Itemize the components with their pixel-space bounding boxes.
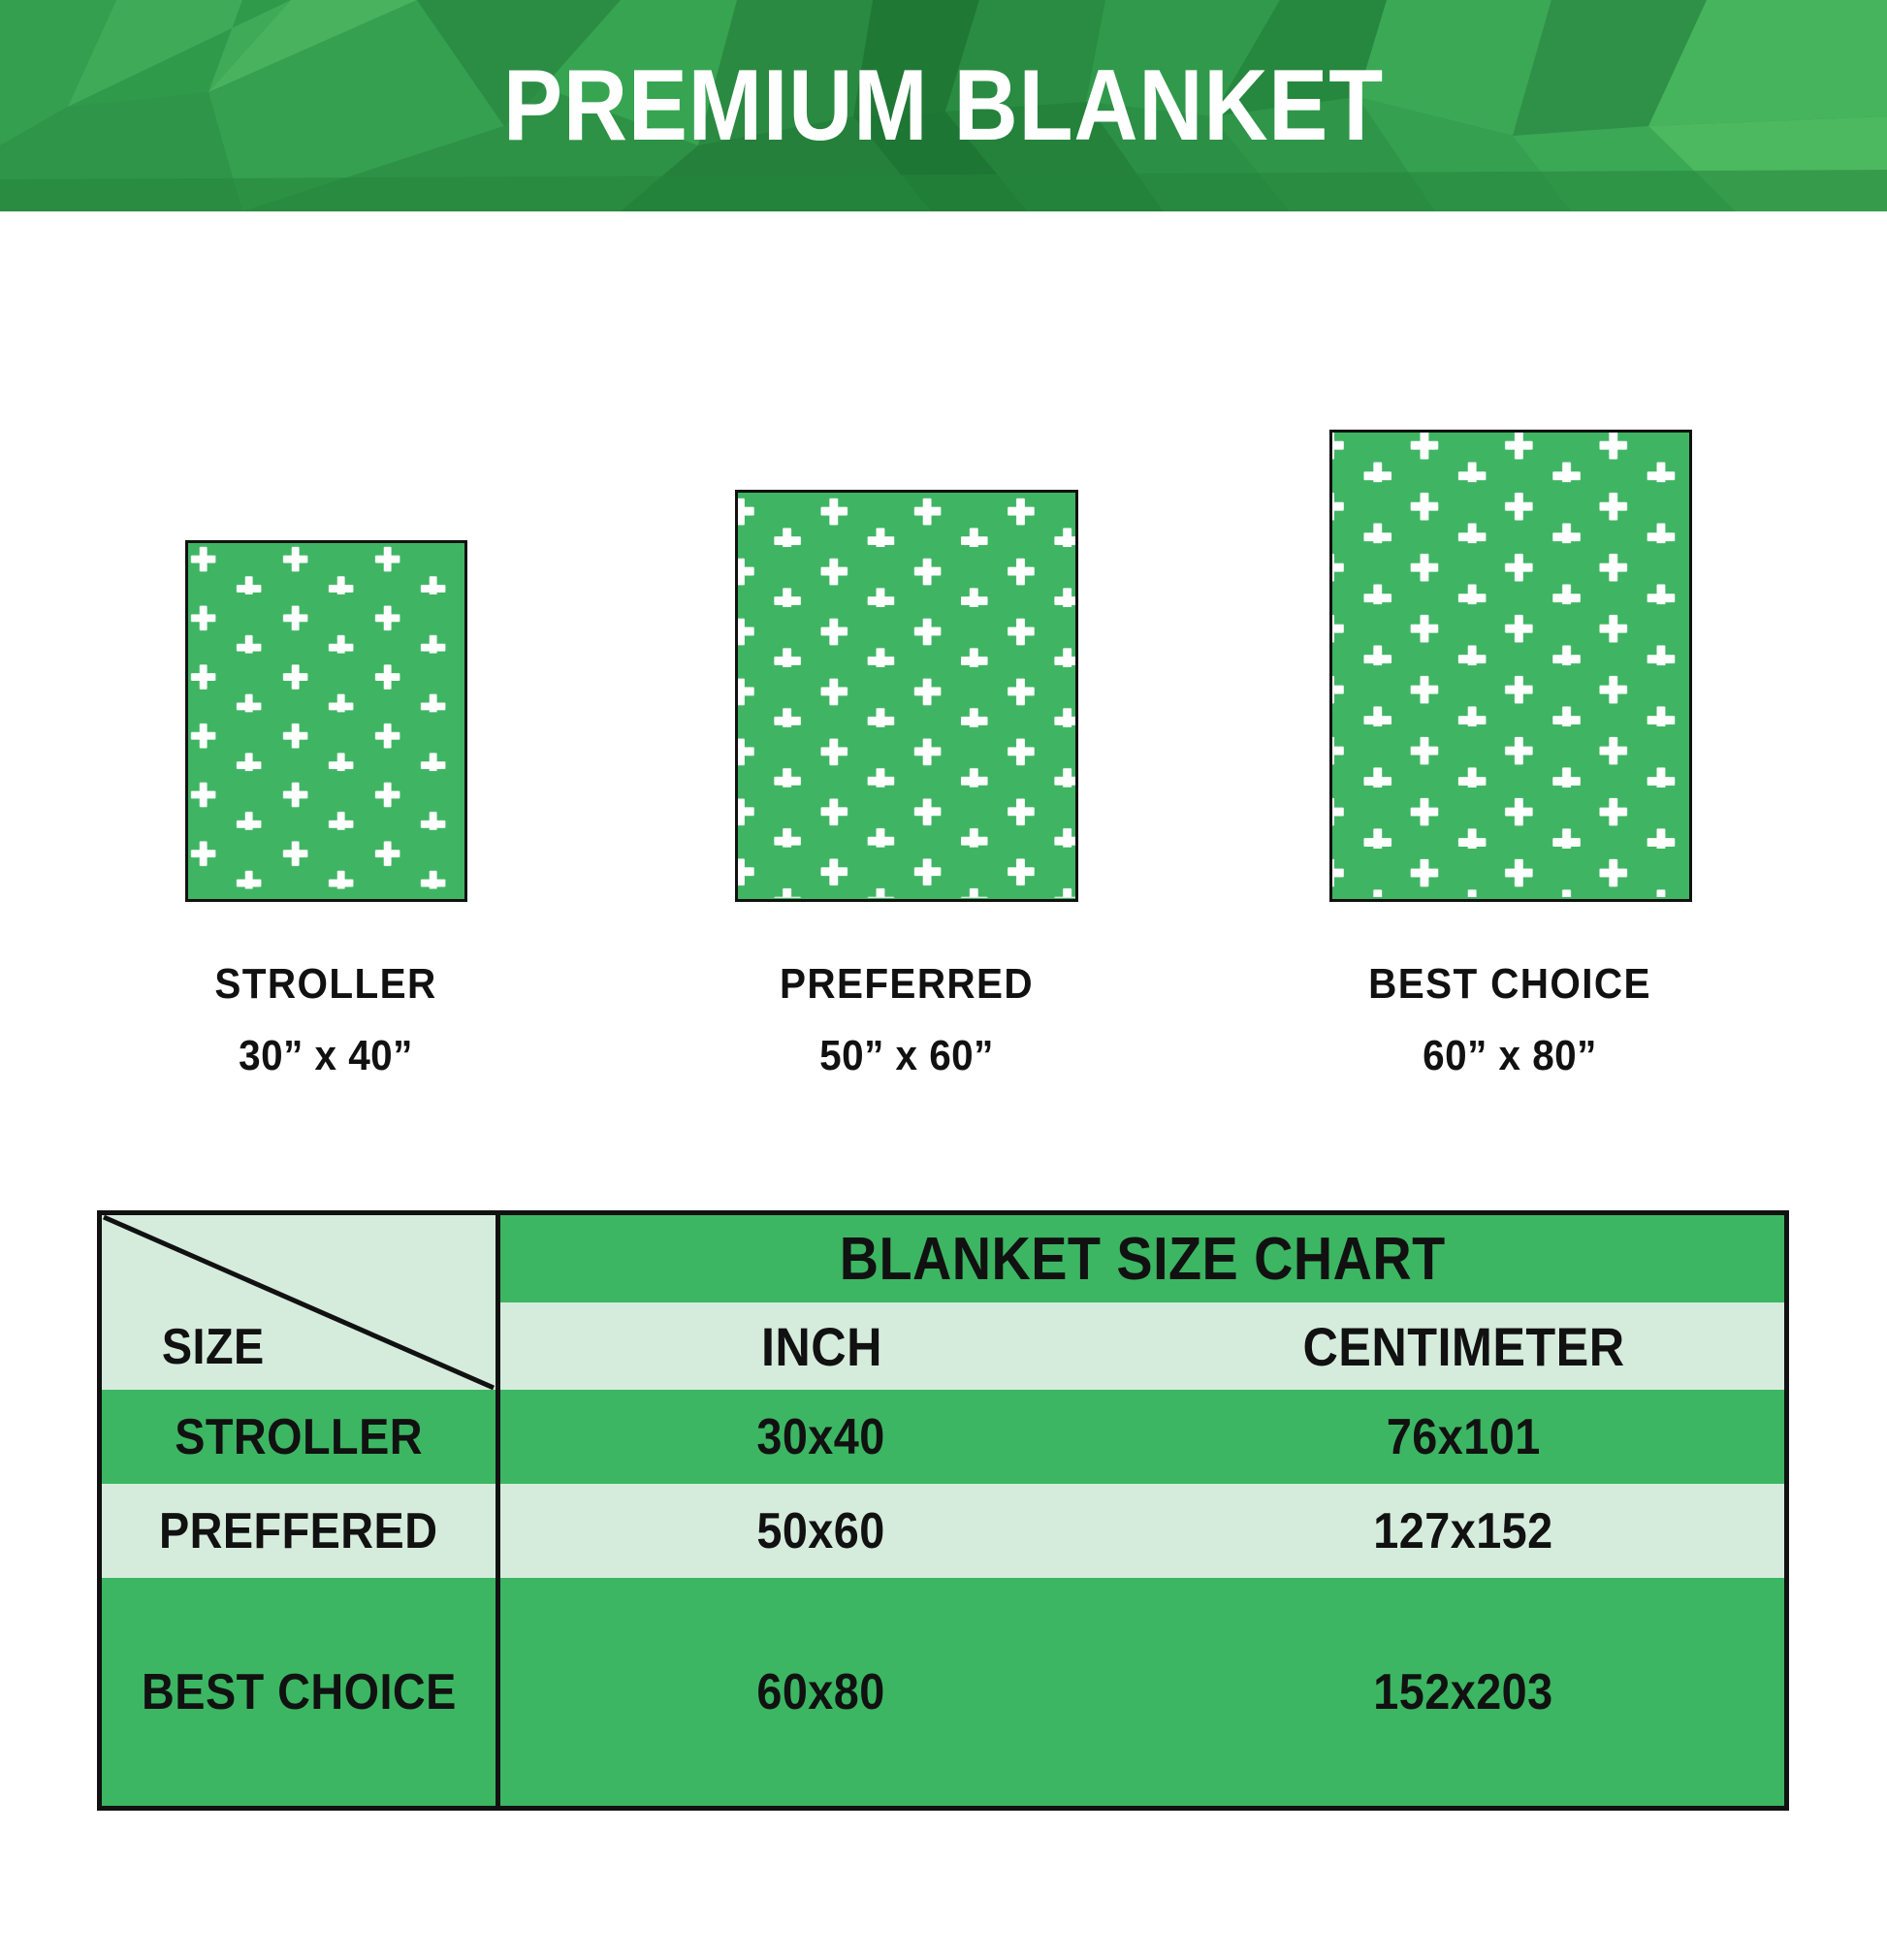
table-column-divider	[496, 1215, 500, 1806]
swatch-caption-best-choice: BEST CHOICE 60” x 80”	[1277, 960, 1743, 1080]
table-title: BLANKET SIZE CHART	[840, 1225, 1446, 1294]
swatch-caption-stroller: STROLLER 30” x 40”	[93, 960, 559, 1080]
swatch-preferred	[735, 490, 1078, 902]
table-cell-centimeter: 76x101	[1142, 1390, 1784, 1484]
row-size-label: PREFFERED	[159, 1502, 437, 1560]
table-cell-inch: 30x40	[500, 1390, 1142, 1484]
swatch-dims-best-choice: 60” x 80”	[1295, 1032, 1724, 1080]
swatch-dims-stroller: 30” x 40”	[112, 1032, 540, 1080]
swatch-label-stroller: STROLLER	[112, 960, 540, 1009]
table-cell-inch: 60x80	[500, 1578, 1142, 1806]
table-corner-label: SIZE	[162, 1318, 265, 1376]
table-column-header-inch: INCH	[500, 1302, 1142, 1390]
table-cell-inch: 50x60	[500, 1484, 1142, 1578]
table-row: BEST CHOICE	[102, 1578, 496, 1806]
table-row: PREFFERED	[102, 1484, 496, 1578]
table-corner-cell: SIZE	[102, 1215, 496, 1390]
swatch-label-best-choice: BEST CHOICE	[1295, 960, 1724, 1009]
table-column-header-centimeter: CENTIMETER	[1142, 1302, 1784, 1390]
cross-pattern-icon	[1332, 433, 1689, 897]
table-row: STROLLER	[102, 1390, 496, 1484]
swatch-dims-preferred: 50” x 60”	[692, 1032, 1121, 1080]
table-cell-centimeter: 127x152	[1142, 1484, 1784, 1578]
swatch-stroller	[185, 540, 467, 902]
blanket-size-chart-table: SIZE BLANKET SIZE CHART INCH CENTIMETER …	[97, 1210, 1789, 1811]
row-size-label: STROLLER	[175, 1408, 423, 1466]
swatch-best-choice	[1329, 430, 1692, 902]
page-header: PREMIUM BLANKET	[0, 0, 1887, 211]
row-size-label: BEST CHOICE	[142, 1663, 457, 1721]
cross-pattern-icon	[738, 493, 1075, 898]
cross-pattern-icon	[188, 543, 464, 897]
swatch-label-preferred: PREFERRED	[692, 960, 1121, 1009]
table-title-cell: BLANKET SIZE CHART	[500, 1215, 1784, 1302]
table-grid: SIZE BLANKET SIZE CHART INCH CENTIMETER …	[102, 1215, 1784, 1806]
table-cell-centimeter: 152x203	[1142, 1578, 1784, 1806]
page-title: PREMIUM BLANKET	[113, 0, 1774, 211]
swatch-caption-preferred: PREFERRED 50” x 60”	[674, 960, 1139, 1080]
